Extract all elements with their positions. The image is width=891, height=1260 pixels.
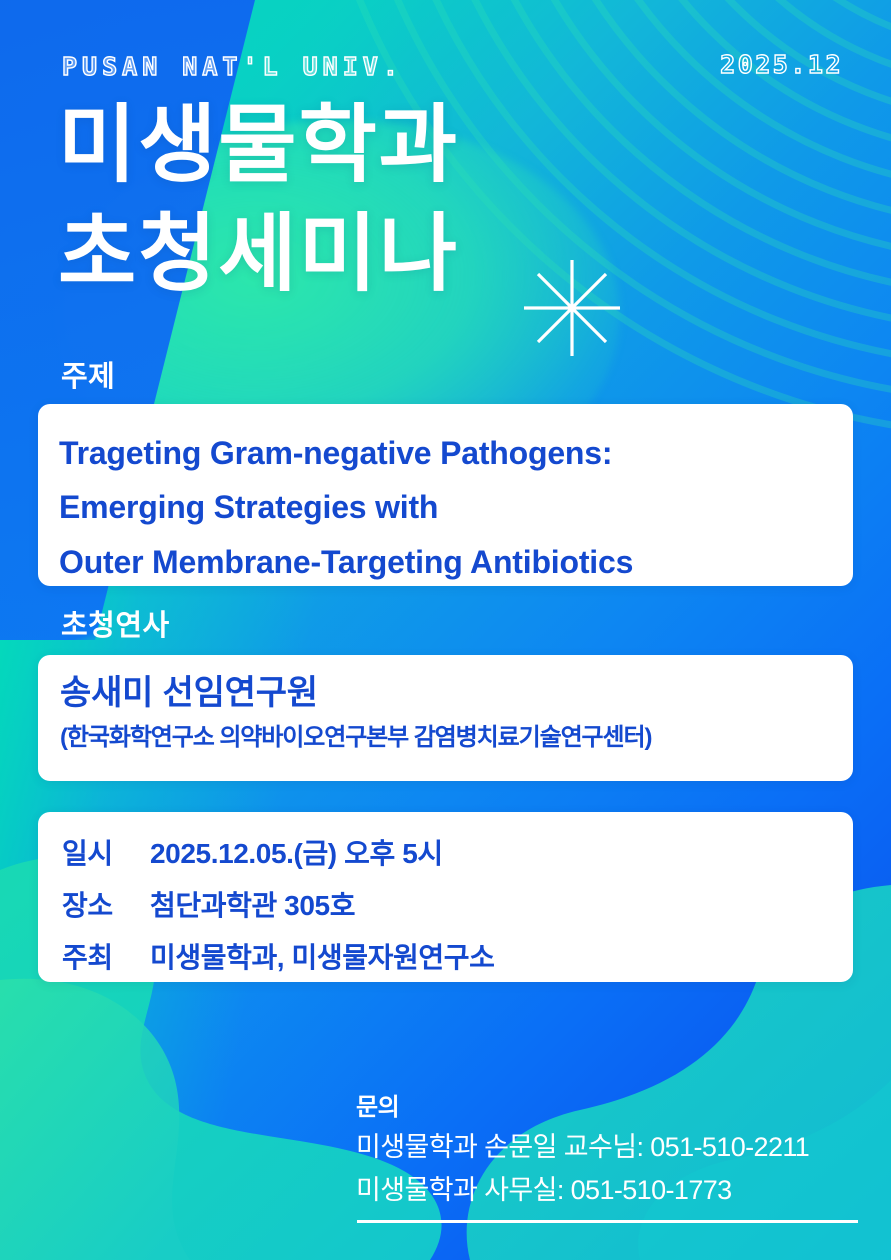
detail-value-place: 첨단과학관 305호 — [150, 884, 355, 924]
year-month-mark: 2025.12 — [720, 50, 843, 79]
topic-line-2: Emerging Strategies with — [59, 480, 853, 534]
detail-row: 장소 첨단과학관 305호 — [62, 884, 853, 924]
contact-block: 문의 미생물학과 손문일 교수님: 051-510-2211 미생물학과 사무실… — [356, 1090, 856, 1211]
speaker-affiliation: (한국화학연구소 의약바이오연구본부 감염병치료기술연구센터) — [60, 721, 853, 756]
topic-card: Trageting Gram-negative Pathogens: Emerg… — [38, 404, 853, 586]
speaker-card: 송새미 선임연구원 (한국화학연구소 의약바이오연구본부 감염병치료기술연구센터… — [38, 655, 853, 781]
university-kicker: PUSAN NAT'L UNIV. — [62, 52, 403, 81]
detail-value-date: 2025.12.05.(금) 오후 5시 — [150, 832, 443, 872]
contact-office: 미생물학과 사무실: 051-510-1773 — [356, 1169, 856, 1212]
detail-row: 일시 2025.12.05.(금) 오후 5시 — [62, 832, 853, 872]
speaker-section-label: 초청연사 — [61, 602, 170, 644]
contact-professor: 미생물학과 손문일 교수님: 051-510-2211 — [356, 1126, 856, 1169]
detail-key-host: 주최 — [62, 936, 150, 976]
event-details-card: 일시 2025.12.05.(금) 오후 5시 장소 첨단과학관 305호 주최… — [38, 812, 853, 982]
contact-label: 문의 — [356, 1090, 856, 1126]
topic-line-3: Outer Membrane-Targeting Antibiotics — [59, 535, 853, 589]
footer-divider — [357, 1220, 858, 1223]
detail-row: 주최 미생물학과, 미생물자원연구소 — [62, 936, 853, 976]
detail-key-place: 장소 — [62, 884, 150, 924]
topic-section-label: 주제 — [61, 353, 115, 395]
detail-value-host: 미생물학과, 미생물자원연구소 — [150, 936, 494, 976]
detail-key-date: 일시 — [62, 832, 150, 872]
main-title-line-2: 초청세미나 — [58, 201, 459, 310]
seminar-poster: PUSAN NAT'L UNIV. 2025.12 미생물학과 초청세미나 주제… — [0, 0, 891, 1260]
speaker-name: 송새미 선임연구원 — [60, 671, 853, 717]
poster-main-title: 미생물학과 초청세미나 — [58, 92, 459, 310]
eight-point-star-icon — [519, 258, 625, 358]
topic-line-1: Trageting Gram-negative Pathogens: — [59, 426, 853, 480]
main-title-line-1: 미생물학과 — [58, 92, 459, 201]
